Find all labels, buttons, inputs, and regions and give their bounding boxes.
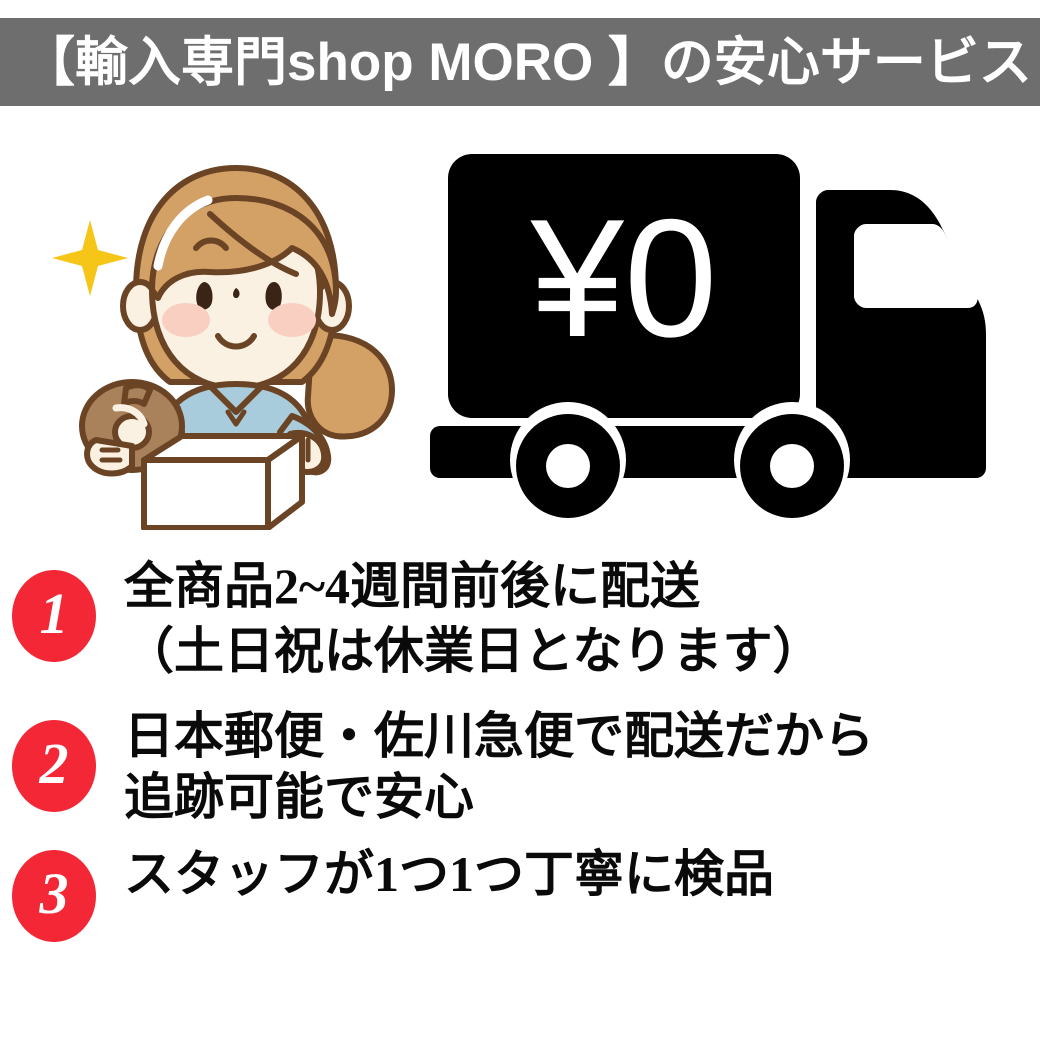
feature-number-3: 3 xyxy=(40,865,69,923)
feature-list: 1 全商品2~4週間前後に配送 （土日祝は休業日となります） 2 日本郵便・佐川… xyxy=(0,548,1040,942)
packing-staff-svg xyxy=(40,140,430,530)
illustration-row: ¥0 xyxy=(0,120,1040,540)
sparkle-icon xyxy=(52,220,128,296)
feature-badge-2: 2 xyxy=(12,720,96,812)
free-shipping-truck-icon: ¥0 xyxy=(420,140,1030,530)
feature-badge-1: 1 xyxy=(12,570,96,662)
box-front xyxy=(144,460,268,528)
feature-item-1: 1 全商品2~4週間前後に配送 （土日祝は休業日となります） xyxy=(0,554,1040,684)
truck-svg: ¥0 xyxy=(420,140,1030,530)
truck-price-label: ¥0 xyxy=(530,184,718,372)
truck-wheel-front-hub xyxy=(770,444,814,488)
header-bar: 【輸入専門shop MORO 】の安心サービス xyxy=(0,18,1040,106)
cheek-left xyxy=(162,303,210,337)
feature-number-2: 2 xyxy=(40,735,69,793)
feature-number-1: 1 xyxy=(40,585,69,643)
feature-text-3: スタッフが1つ1つ丁寧に検品 xyxy=(96,846,1040,904)
feature-item-2: 2 日本郵便・佐川急便で配送だから 追跡可能で安心 xyxy=(0,706,1040,828)
truck-window xyxy=(854,224,978,308)
feature-text-1: 全商品2~4週間前後に配送 （土日祝は休業日となります） xyxy=(96,554,1040,684)
hand-left xyxy=(87,440,132,474)
page-title: 【輸入専門shop MORO 】の安心サービス xyxy=(22,36,1032,89)
feature-badge-3: 3 xyxy=(12,850,96,942)
promo-banner: 【輸入専門shop MORO 】の安心サービス xyxy=(0,0,1040,1040)
feature-text-2: 日本郵便・佐川急便で配送だから 追跡可能で安心 xyxy=(96,706,1040,828)
feature-item-3: 3 スタッフが1つ1つ丁寧に検品 xyxy=(0,846,1040,942)
cheek-right xyxy=(268,303,316,337)
packing-staff-illustration xyxy=(40,140,430,530)
truck-wheel-rear-hub xyxy=(546,444,590,488)
tape-handle xyxy=(124,385,150,404)
